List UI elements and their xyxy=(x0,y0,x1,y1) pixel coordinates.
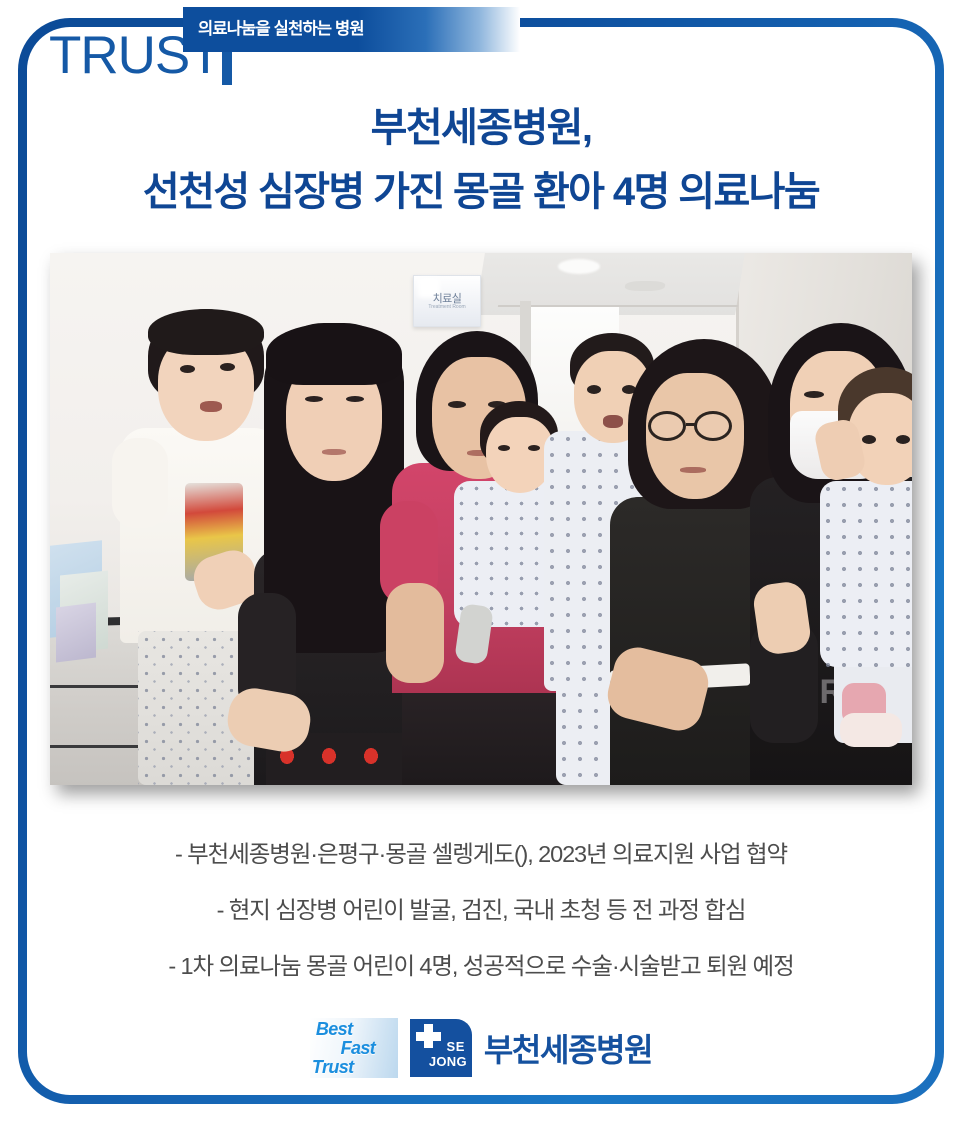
page-title: 부천세종병원, 선천성 심장병 가진 몽골 환아 4명 의료나눔 xyxy=(0,100,962,220)
hospital-name: 부천세종병원 xyxy=(484,1025,652,1071)
bullet-item: - 현지 심장병 어린이 발굴, 검진, 국내 초청 등 전 과정 합심 xyxy=(0,882,962,938)
guardian-1-eye-right xyxy=(346,396,364,402)
child-1-sleeve xyxy=(112,438,168,528)
photo-canvas: 치료실 Treatment Room xyxy=(50,253,912,785)
guardian-3-glasses-bridge xyxy=(686,423,696,426)
slogan-fast: Fast xyxy=(310,1039,398,1058)
slogan-trust: Trust xyxy=(310,1058,398,1077)
child-3-mouth xyxy=(603,415,623,428)
news-card: TRUST 의료나눔을 실천하는 병원 부천세종병원, 선천성 심장병 가진 몽… xyxy=(0,0,962,1122)
child-1-mouth xyxy=(200,401,222,412)
guardian-4-eye-left xyxy=(804,391,824,398)
photo-ceiling-vent xyxy=(624,281,666,291)
guardian-1-mouth xyxy=(322,449,346,455)
child-1-eye-left xyxy=(180,365,195,373)
mark-text-jong: JONG xyxy=(429,1054,467,1069)
child-4-eye-right xyxy=(896,435,910,444)
title-line-1: 부천세종병원, xyxy=(0,100,962,156)
child-4-gown-pattern xyxy=(820,481,912,667)
tagline-text: 의료나눔을 실천하는 병원 xyxy=(198,7,364,52)
guardian-2-arm xyxy=(386,583,444,683)
bullet-item: - 부천세종병원·은평구·몽골 셀렝게도(), 2023년 의료지원 사업 협약 xyxy=(0,826,962,882)
mark-text-se: SE xyxy=(447,1039,465,1054)
summary-bullets: - 부천세종병원·은평구·몽골 셀렝게도(), 2023년 의료지원 사업 협약… xyxy=(0,826,962,994)
guardian-3-mouth xyxy=(680,467,706,473)
child-4-shoe xyxy=(840,713,902,747)
child-1-fringe xyxy=(148,309,264,355)
photo-ceiling-light xyxy=(558,259,600,274)
guardian-1-fringe xyxy=(266,323,402,385)
best-fast-trust-slogan: Best Fast Trust xyxy=(310,1018,398,1078)
sejong-logo-mark: SE JONG xyxy=(410,1019,472,1077)
photo-folder-3 xyxy=(56,603,96,663)
guardian-3-glasses-left-lens xyxy=(648,411,686,441)
guardian-1-eye-left xyxy=(305,396,323,402)
sign-sublabel: Treatment Room xyxy=(413,304,481,310)
child-2-eye-left xyxy=(498,445,510,451)
child-4-eye-left xyxy=(862,435,876,444)
guardian-2-legs xyxy=(402,683,568,785)
footer-logo: Best Fast Trust SE JONG 부천세종병원 xyxy=(0,1008,962,1088)
title-line-2: 선천성 심장병 가진 몽골 환아 4명 의료나눔 xyxy=(0,164,962,220)
child-3-eye-left xyxy=(587,385,601,394)
group-photo: 치료실 Treatment Room xyxy=(50,253,912,785)
child-1-eye-right xyxy=(220,363,235,371)
child-2-eye-right xyxy=(528,445,540,451)
slogan-best: Best xyxy=(310,1020,398,1039)
guardian-3-glasses-right-lens xyxy=(694,411,732,441)
medical-cross-icon-bar xyxy=(416,1032,441,1041)
bullet-item: - 1차 의료나눔 몽골 어린이 4명, 성공적으로 수술·시술받고 퇴원 예정 xyxy=(0,938,962,994)
guardian-2-eye-left xyxy=(448,401,466,408)
